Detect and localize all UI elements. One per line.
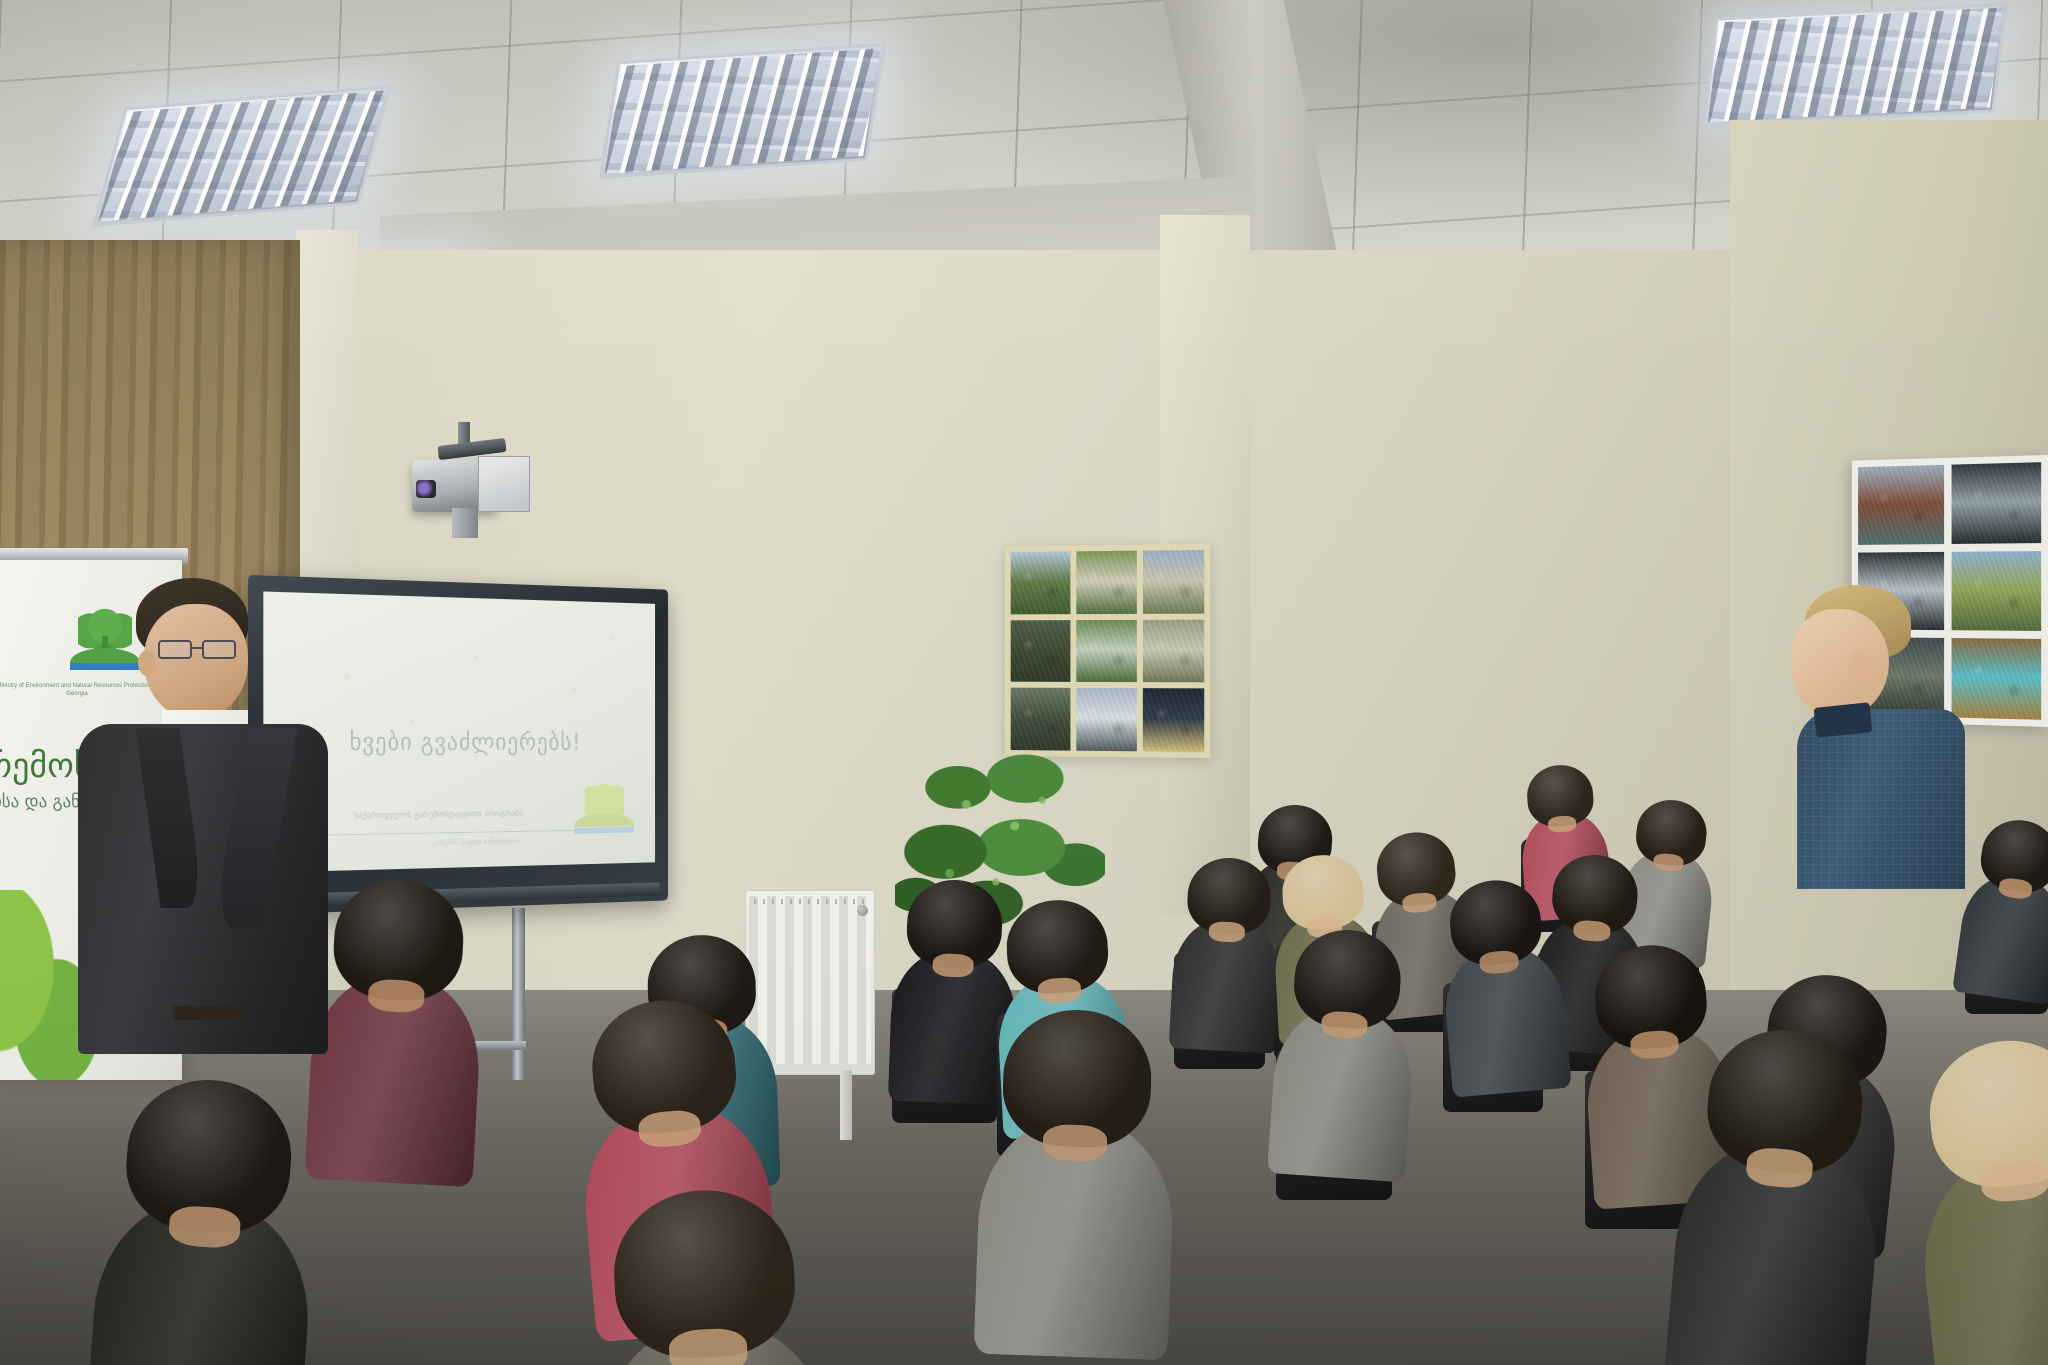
photo-texture (1011, 551, 1071, 614)
audience-member (1447, 876, 1558, 1081)
ceiling-projector (412, 452, 530, 538)
photo-tile (1858, 465, 1944, 545)
standing-attendee (1775, 585, 1965, 885)
lens (158, 640, 192, 659)
photo-texture (1952, 462, 2042, 543)
ear (138, 650, 156, 676)
audience-member (108, 1074, 303, 1365)
light-louver-grid (1708, 8, 2003, 123)
light-louver-grid (98, 90, 385, 221)
neck (1209, 921, 1246, 943)
tree-icon (585, 782, 625, 818)
photo-tile (1011, 551, 1071, 614)
slide-ministry-logo (575, 782, 634, 840)
photo-texture (1143, 550, 1204, 614)
ground-shape (575, 813, 634, 827)
audience-member (610, 1185, 817, 1365)
radiator-pipe (840, 1070, 852, 1140)
photo-tile (1076, 620, 1137, 683)
belt (174, 1006, 244, 1020)
radiator-vent-holes (754, 899, 866, 904)
photo-texture (1952, 638, 2042, 719)
eyeglasses (156, 640, 248, 660)
photo-tile (1143, 550, 1204, 614)
face (144, 604, 248, 720)
photo-tile (1076, 551, 1137, 614)
audience-member (323, 877, 472, 1164)
neck (367, 978, 425, 1013)
photo-tile (1952, 551, 2042, 632)
projector-stalk (452, 508, 478, 538)
neck (1037, 977, 1082, 1004)
photo-tile (1952, 462, 2042, 543)
water-stripe (575, 827, 634, 834)
photograph-scene: ხვები გვაძლიერებს! საქართველოს გარემოსდა… (0, 0, 2048, 1365)
audience-member (1180, 856, 1275, 1040)
photo-texture (1858, 465, 1944, 545)
projector-lens (416, 480, 436, 498)
photo-texture (1952, 551, 2042, 632)
audience-member (901, 878, 1007, 1088)
neck (1042, 1124, 1108, 1163)
audience-member (1686, 1024, 1874, 1365)
ear (1849, 653, 1869, 679)
suit-jacket (78, 724, 328, 1054)
wall-photo-collage (1005, 544, 1210, 758)
face (1791, 609, 1889, 719)
stand-leg (512, 908, 525, 1080)
photo-tile (1143, 688, 1204, 752)
audience-member (1923, 1032, 2048, 1365)
photo-texture (1143, 619, 1204, 682)
photo-texture (1143, 688, 1204, 752)
neck (932, 953, 974, 978)
audience-member (1282, 926, 1408, 1163)
presenter (78, 578, 328, 1048)
lens (202, 640, 236, 659)
photo-tile (1143, 619, 1204, 682)
photo-texture (1011, 620, 1071, 682)
ceiling-light-panel (1702, 2, 2008, 127)
collage-grid (1011, 550, 1205, 752)
photo-tile (1011, 620, 1071, 682)
radiator-valve (857, 905, 868, 916)
audience-member (994, 1007, 1159, 1334)
radiator-fins (749, 896, 871, 1064)
projector-panel (478, 456, 530, 512)
ceiling-light-panel (599, 43, 887, 179)
neck (668, 1328, 748, 1365)
glasses-bridge (192, 647, 204, 649)
photo-texture (1076, 551, 1137, 614)
photo-texture (1076, 620, 1137, 683)
collar (1814, 702, 1873, 738)
light-louver-grid (605, 48, 881, 174)
photo-tile (1952, 638, 2042, 719)
